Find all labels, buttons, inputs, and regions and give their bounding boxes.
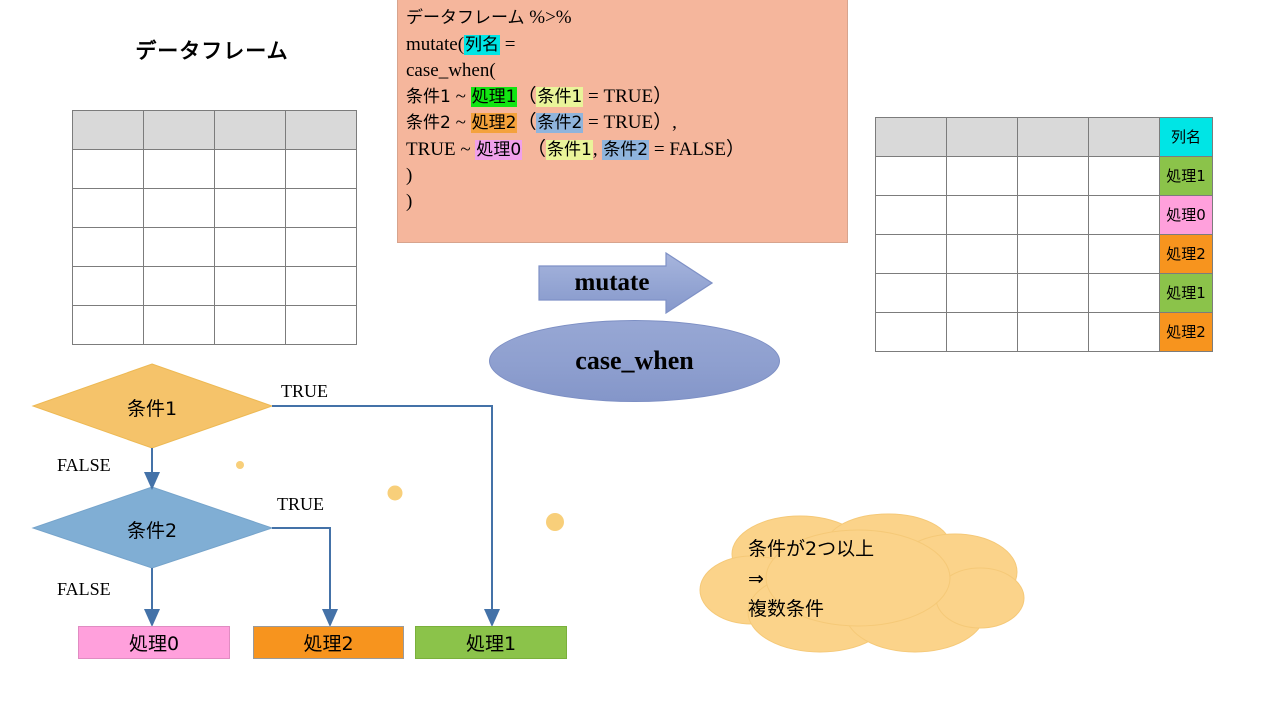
decision-condition2-label: 条件2 [33,516,271,543]
table-cell [1089,157,1160,196]
table-cell [876,196,947,235]
new-column-cell: 処理0 [1160,196,1213,235]
table-header-cell [876,118,947,157]
decorative-dot-small [236,461,244,469]
table-header-cell [1018,118,1089,157]
edge-label-true-1: TRUE [281,381,328,402]
table-header-cell [1089,118,1160,157]
table-row: 処理1 [876,157,1213,196]
table-cell [876,274,947,313]
table-cell [876,235,947,274]
decorative-dot-large [546,513,564,531]
new-column-cell: 処理2 [1160,313,1213,352]
cloud-line-3: 複数条件 [748,594,1008,624]
table-cell [1089,274,1160,313]
new-column-cell: 処理1 [1160,274,1213,313]
new-column-header-cell: 列名 [1160,118,1213,157]
table-cell [947,313,1018,352]
table-cell [1018,235,1089,274]
result-box-shori2: 処理2 [253,626,404,659]
table-row: 処理2 [876,235,1213,274]
edge-label-true-2: TRUE [277,494,324,515]
table-header-cell [947,118,1018,157]
table-cell [1018,313,1089,352]
edge-label-false-1: FALSE [57,455,111,476]
table-cell [876,313,947,352]
table-cell [876,157,947,196]
table-cell [947,235,1018,274]
table-cell [1089,235,1160,274]
code-token: = FALSE） [649,139,745,160]
cloud-callout-text: 条件が2つ以上 ⇒ 複数条件 [748,534,1008,624]
table-cell [1018,196,1089,235]
table-row: 処理2 [876,313,1213,352]
table-cell [1089,313,1160,352]
result-dataframe-table: 列名処理1処理0処理2処理1処理2 [875,117,1213,352]
result-box-shori0: 処理0 [78,626,230,659]
new-column-cell: 処理2 [1160,235,1213,274]
table-row: 列名 [876,118,1213,157]
flowchart-canvas [0,0,640,720]
table-cell [947,274,1018,313]
table-row: 処理1 [876,274,1213,313]
cloud-line-2: ⇒ [748,564,1008,594]
table-cell [947,157,1018,196]
edge-true2 [272,528,330,618]
table-cell [1018,157,1089,196]
table-row: 処理0 [876,196,1213,235]
cloud-line-1: 条件が2つ以上 [748,534,1008,564]
new-column-cell: 処理1 [1160,157,1213,196]
table-cell [1089,196,1160,235]
table-cell [1018,274,1089,313]
result-box-shori1: 処理1 [415,626,567,659]
edge-label-false-2: FALSE [57,579,111,600]
decorative-dot-medium [388,486,403,501]
table-cell [947,196,1018,235]
decision-condition1-label: 条件1 [33,394,271,421]
